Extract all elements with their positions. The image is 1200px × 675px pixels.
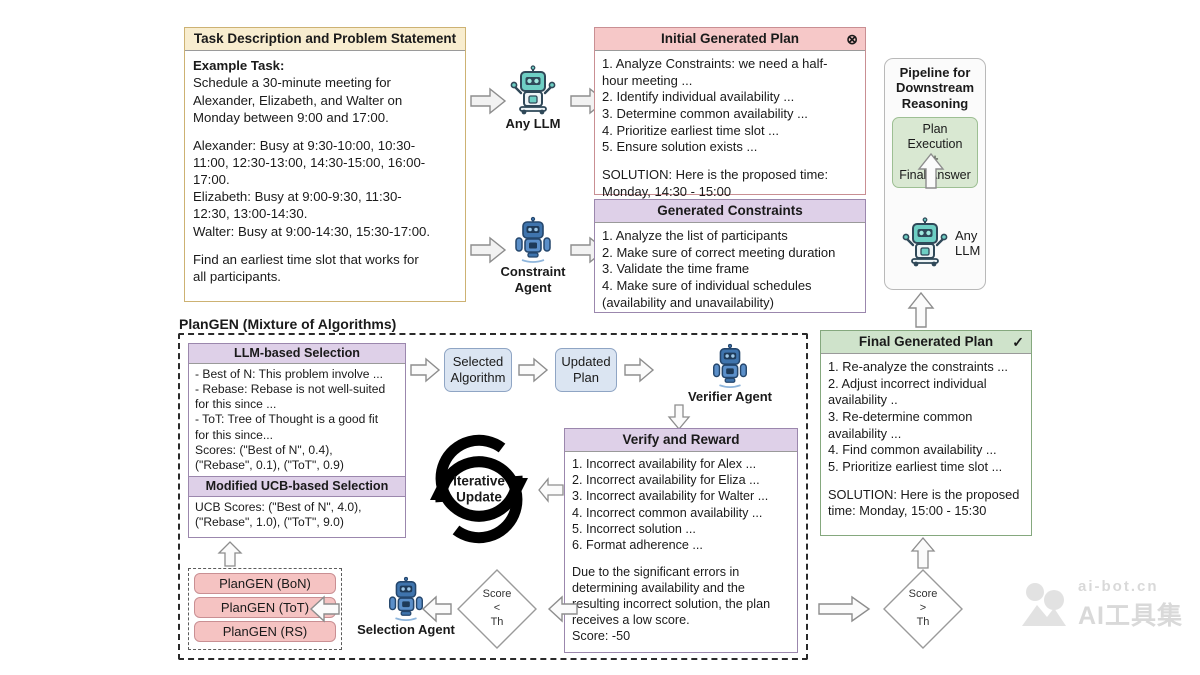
any-llm-agent-2-line1: Any <box>955 228 980 243</box>
verify-and-reward-title: Verify and Reward <box>565 429 797 452</box>
ucb-based-selection-body: UCB Scores: ("Best of N", 4.0), ("Rebase… <box>189 497 405 533</box>
score-lt-line1: Score <box>483 588 512 602</box>
initial-plan-spacer <box>602 156 858 167</box>
verify-line-0: 1. Incorrect availability for Alex ... <box>572 456 790 472</box>
watermark: ai-bot.cn AI工具集 <box>1018 578 1190 640</box>
arrow-any-llm2-to-plan-execution <box>918 153 944 189</box>
ucb-selection-line-0: UCB Scores: ("Best of N", 4.0), <box>195 500 399 515</box>
watermark-line2: AI工具集 <box>1078 596 1183 632</box>
llm-selection-line-4: for this since... <box>195 428 399 443</box>
iterative-update-label: Iterative Update <box>416 473 542 504</box>
score-gt-line3: Th <box>917 616 930 630</box>
task-description-panel: Task Description and Problem Statement E… <box>184 27 466 302</box>
final-plan-header: Final Generated Plan ✓ <box>821 331 1031 354</box>
score-less-than-threshold-decision: Score < Th <box>456 568 538 650</box>
updated-plan-box: Updated Plan <box>555 348 617 392</box>
selected-algorithm-line1: Selected <box>451 354 506 370</box>
score-gt-line1: Score <box>909 588 938 602</box>
verify-and-reward-panel: Verify and Reward 1. Incorrect availabil… <box>564 428 798 653</box>
task-line-3: Alexander: Busy at 9:30-10:00, 10:30- <box>193 137 457 154</box>
updated-plan-line2: Plan <box>561 370 610 386</box>
initial-plan-header: Initial Generated Plan ⊗ <box>595 28 865 51</box>
score-lt-line2: < <box>494 602 500 616</box>
arrow-variants-to-ucb <box>218 541 242 567</box>
initial-plan-line-5: 5. Ensure solution exists ... <box>602 139 858 156</box>
task-line-8: Walter: Busy at 9:00-14:30, 15:30-17:00. <box>193 223 457 240</box>
initial-plan-line-0: 1. Analyze Constraints: we need a half- <box>602 56 858 73</box>
final-plan-title: Final Generated Plan <box>859 334 993 349</box>
verify-line-4: 5. Incorrect solution ... <box>572 521 790 537</box>
final-plan-line-7: SOLUTION: Here is the proposed <box>828 487 1024 504</box>
verify-line-5: 6. Format adherence ... <box>572 537 790 553</box>
task-example-heading: Example Task: <box>193 57 457 74</box>
iterative-update-line2: Update <box>416 489 542 505</box>
arrow-verifier-to-verify <box>668 404 690 430</box>
task-spacer-2 <box>193 240 457 251</box>
arrow-updated-to-verifier <box>624 358 654 382</box>
pipeline-title-line3: Reasoning <box>889 96 981 111</box>
verify-spacer <box>572 553 790 564</box>
initial-plan-line-3: 3. Determine common availability ... <box>602 106 858 123</box>
arrow-verify-to-score-gt <box>818 596 870 622</box>
constraints-line-0: 1. Analyze the list of participants <box>602 228 858 245</box>
initial-plan-title: Initial Generated Plan <box>661 31 799 46</box>
initial-plan-line-2: 2. Identify individual availability ... <box>602 89 858 106</box>
watermark-line1: ai-bot.cn <box>1078 578 1183 595</box>
constraint-agent-label-line2: Agent <box>485 281 581 296</box>
selection-agent-label: Selection Agent <box>346 623 466 638</box>
arrow-selection-to-variants <box>310 596 340 622</box>
score-lt-text: Score < Th <box>456 568 538 650</box>
task-line-1: Alexander, Elizabeth, and Walter on <box>193 92 457 109</box>
score-gt-text: Score > Th <box>882 568 964 650</box>
constraints-line-2: 3. Validate the time frame <box>602 261 858 278</box>
task-line-6: Elizabeth: Busy at 9:00-9:30, 11:30- <box>193 188 457 205</box>
final-plan-line-0: 1. Re-analyze the constraints ... <box>828 359 1024 376</box>
constraints-line-3: 4. Make sure of individual schedules <box>602 278 858 295</box>
llm-based-selection-body: - Best of N: This problem involve ... - … <box>189 364 405 476</box>
arrow-verify-to-iterative <box>538 478 564 502</box>
constraint-agent-label-line1: Constraint <box>485 265 581 280</box>
algorithm-selection-panel: LLM-based Selection - Best of N: This pr… <box>188 343 406 538</box>
verify-line-1: 2. Incorrect availability for Eliza ... <box>572 472 790 488</box>
verify-and-reward-body: 1. Incorrect availability for Alex ... 2… <box>565 452 797 648</box>
selected-algorithm-box: Selected Algorithm <box>444 348 512 392</box>
final-plan-body: 1. Re-analyze the constraints ... 2. Adj… <box>821 354 1031 525</box>
task-line-9: Find an earliest time slot that works fo… <box>193 251 457 268</box>
verify-line-3: 4. Incorrect common availability ... <box>572 505 790 521</box>
robot-blue-icon-3 <box>672 345 788 389</box>
task-description-title: Task Description and Problem Statement <box>185 28 465 51</box>
any-llm-agent-1: Any LLM <box>485 66 581 132</box>
arrow-score-gt-to-final-plan <box>911 537 935 569</box>
pipeline-title-line1: Pipeline for <box>889 65 981 80</box>
final-plan-line-3: 3. Re-determine common <box>828 409 1024 426</box>
constraint-agent: Constraint Agent <box>485 218 581 296</box>
constraints-line-4: (availability and unavailability) <box>602 295 858 312</box>
final-plan-line-5: 4. Find common availability ... <box>828 442 1024 459</box>
task-line-5: 17:00. <box>193 171 457 188</box>
arrow-score-lt-to-selection <box>422 596 452 622</box>
iterative-update-cycle: Iterative Update <box>416 432 542 546</box>
selected-algorithm-text: Selected Algorithm <box>451 354 506 385</box>
pipeline-title: Pipeline for Downstream Reasoning <box>885 59 985 115</box>
final-plan-line-1: 2. Adjust incorrect individual <box>828 376 1024 393</box>
plangen-region-label: PlanGEN (Mixture of Algorithms) <box>179 316 396 332</box>
any-llm-agent-2-line2: LLM <box>955 243 980 258</box>
plan-execution-line1: Plan Execution <box>895 122 975 153</box>
llm-selection-line-1: - Rebase: Rebase is not well-suited <box>195 382 399 397</box>
task-line-10: all participants. <box>193 268 457 285</box>
task-line-2: Monday between 9:00 and 17:00. <box>193 109 457 126</box>
verifier-agent: Verifier Agent <box>672 345 788 405</box>
verifier-agent-label: Verifier Agent <box>672 390 788 405</box>
any-llm-agent-2-label: Any LLM <box>955 228 980 258</box>
score-gt-line2: > <box>920 602 926 616</box>
robot-teal-icon-2 <box>899 218 951 268</box>
llm-selection-line-0: - Best of N: This problem involve ... <box>195 367 399 382</box>
task-line-4: 11:00, 12:30-13:00, 14:30-15:00, 16:00- <box>193 154 457 171</box>
generated-constraints-title: Generated Constraints <box>595 200 865 223</box>
final-plan-spacer <box>828 476 1024 487</box>
watermark-logo-icon <box>1018 582 1070 628</box>
robot-teal-icon <box>485 66 581 116</box>
initial-plan-body: 1. Analyze Constraints: we need a half- … <box>595 51 865 205</box>
final-generated-plan-panel: Final Generated Plan ✓ 1. Re-analyze the… <box>820 330 1032 536</box>
verify-line-2: 3. Incorrect availability for Walter ... <box>572 488 790 504</box>
selected-algorithm-line2: Algorithm <box>451 370 506 386</box>
plangen-variant-rs[interactable]: PlanGEN (RS) <box>194 621 336 642</box>
robot-blue-icon <box>485 218 581 264</box>
generated-constraints-panel: Generated Constraints 1. Analyze the lis… <box>594 199 866 313</box>
arrow-algo-to-selected <box>410 358 440 382</box>
verify-line-7: determining availability and the <box>572 580 790 596</box>
llm-selection-line-5: Scores: ("Best of N", 0.4), <box>195 443 399 458</box>
verify-line-9: receives a low score. <box>572 612 790 628</box>
error-badge-icon: ⊗ <box>846 32 858 46</box>
arrow-final-plan-to-pipeline <box>908 292 934 328</box>
updated-plan-line1: Updated <box>561 354 610 370</box>
initial-plan-line-1: hour meeting ... <box>602 73 858 90</box>
task-spacer-1 <box>193 126 457 137</box>
verify-score: Score: -50 <box>572 628 790 644</box>
updated-plan-text: Updated Plan <box>561 354 610 385</box>
any-llm-agent-2: Any LLM <box>899 218 1019 268</box>
task-description-body: Example Task: Schedule a 30-minute meeti… <box>185 51 465 291</box>
arrow-verify-to-score-lt <box>548 596 578 622</box>
llm-selection-line-2: for this since ... <box>195 397 399 412</box>
ucb-based-selection-title: Modified UCB-based Selection <box>189 476 405 497</box>
initial-plan-line-7: Monday, 14:30 - 15:00 <box>602 184 858 201</box>
initial-plan-line-6: SOLUTION: Here is the proposed time: <box>602 167 858 184</box>
final-plan-line-6: 5. Prioritize earliest time slot ... <box>828 459 1024 476</box>
task-line-0: Schedule a 30-minute meeting for <box>193 74 457 91</box>
pipeline-title-line2: Downstream <box>889 80 981 95</box>
generated-constraints-body: 1. Analyze the list of participants 2. M… <box>595 223 865 316</box>
iterative-update-line1: Iterative <box>416 473 542 489</box>
score-greater-than-threshold-decision: Score > Th <box>882 568 964 650</box>
verify-line-8: resulting incorrect solution, the plan <box>572 596 790 612</box>
final-plan-line-2: availability .. <box>828 392 1024 409</box>
initial-plan-line-4: 4. Prioritize earliest time slot ... <box>602 123 858 140</box>
any-llm-agent-1-label: Any LLM <box>485 117 581 132</box>
initial-generated-plan-panel: Initial Generated Plan ⊗ 1. Analyze Cons… <box>594 27 866 195</box>
ucb-selection-line-1: ("Rebase", 1.0), ("ToT", 9.0) <box>195 515 399 530</box>
plangen-variant-bon[interactable]: PlanGEN (BoN) <box>194 573 336 594</box>
check-badge-icon: ✓ <box>1012 335 1024 349</box>
final-plan-line-4: availability ... <box>828 426 1024 443</box>
llm-selection-line-6: ("Rebase", 0.1), ("ToT", 0.9) <box>195 458 399 473</box>
verify-line-6: Due to the significant errors in <box>572 564 790 580</box>
constraints-line-1: 2. Make sure of correct meeting duration <box>602 245 858 262</box>
final-plan-line-8: time: Monday, 15:00 - 15:30 <box>828 503 1024 520</box>
llm-based-selection-title: LLM-based Selection <box>189 344 405 364</box>
score-lt-line3: Th <box>491 616 504 630</box>
arrow-selected-to-updated <box>518 358 548 382</box>
llm-selection-line-3: - ToT: Tree of Thought is a good fit <box>195 412 399 427</box>
task-line-7: 12:30, 13:00-14:30. <box>193 205 457 222</box>
